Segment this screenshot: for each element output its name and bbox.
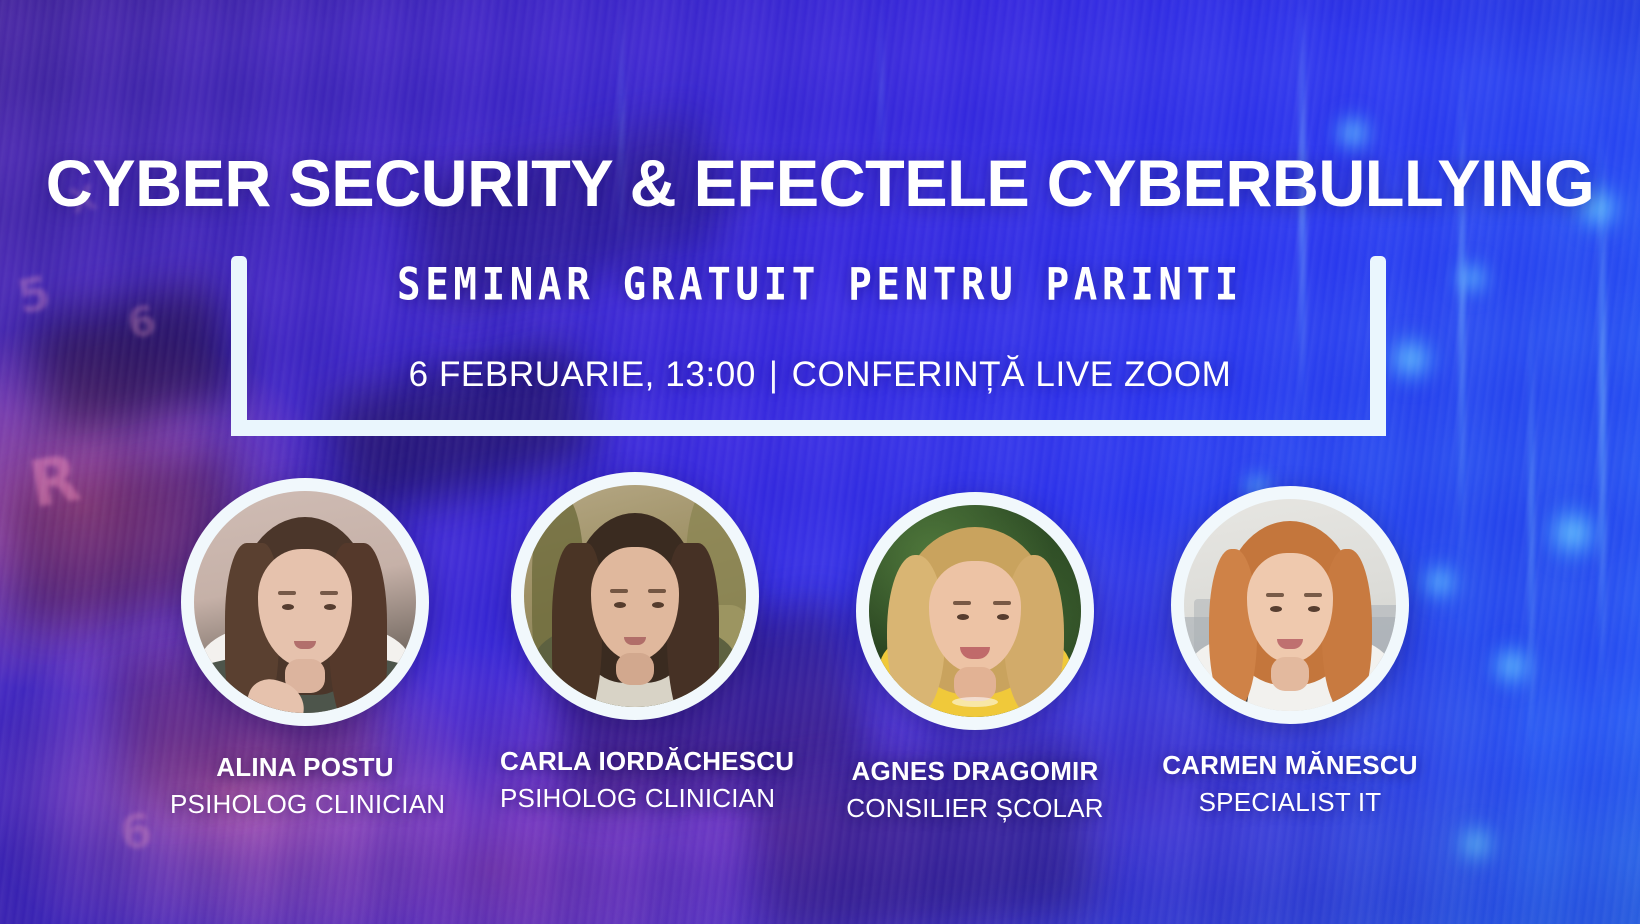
speaker-role: PSIHOLOG CLINICIAN [170,789,440,820]
poster-dateline: 6 FEBRUARIE, 13:00|CONFERINȚĂ LIVE ZOOM [0,355,1640,395]
speaker-name: AGNES DRAGOMIR [840,756,1110,787]
event-format: CONFERINȚĂ LIVE ZOOM [792,355,1232,394]
speaker-role: SPECIALIST IT [1155,787,1425,818]
speaker-name: ALINA POSTU [170,752,440,783]
portrait-agnes-dragomir-photo [869,505,1081,717]
event-poster: 5 6 R 6 X CYBER SECURITY & EFECTELE CYBE… [0,0,1640,924]
avatar [856,492,1094,730]
poster-title: CYBER SECURITY & EFECTELE CYBERBULLYING [12,150,1627,216]
avatar [1171,486,1409,724]
speaker-role: CONSILIER ȘCOLAR [840,793,1110,824]
speaker-card: CARLA IORDĂCHESCU PSIHOLOG CLINICIAN [500,472,770,814]
portrait-carmen-manescu-photo [1184,499,1396,711]
background-light-streak [620,0,623,260]
avatar [181,478,429,726]
portrait-alina-postu-photo [194,491,416,713]
avatar [511,472,759,720]
speaker-name: CARLA IORDĂCHESCU [500,746,770,777]
event-date: 6 FEBRUARIE, 13:00 [409,355,756,394]
background-bokeh [1540,500,1606,566]
portrait-carla-iordachescu-photo [524,485,746,707]
speaker-card: CARMEN MĂNESCU SPECIALIST IT [1155,486,1425,818]
speaker-name: CARMEN MĂNESCU [1155,750,1425,781]
dateline-separator: | [769,355,779,395]
speaker-role: PSIHOLOG CLINICIAN [500,783,770,814]
poster-subtitle: SEMINAR GRATUIT PENTRU PARINTI [0,258,1640,310]
speakers-row: ALINA POSTU PSIHOLOG CLINICIAN [150,472,1480,872]
speaker-card: AGNES DRAGOMIR CONSILIER ȘCOLAR [840,492,1110,824]
speaker-card: ALINA POSTU PSIHOLOG CLINICIAN [170,478,440,820]
